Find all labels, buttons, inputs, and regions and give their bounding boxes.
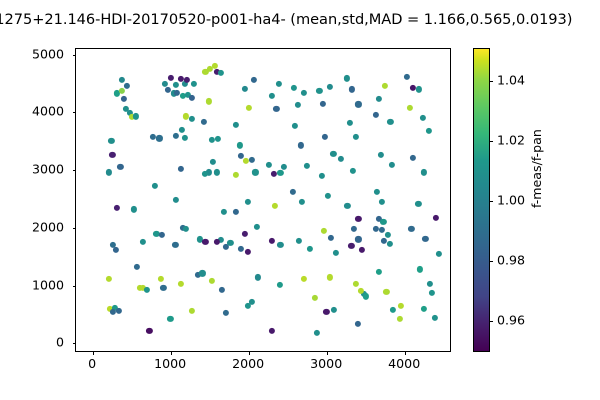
x-tick-label: 1000	[154, 356, 186, 371]
scatter-point	[333, 250, 339, 256]
scatter-point	[348, 243, 354, 249]
scatter-point	[296, 237, 302, 243]
scatter-point	[408, 226, 414, 232]
scatter-point	[108, 138, 114, 144]
scatter-point	[238, 245, 244, 251]
y-tick-mark	[73, 343, 77, 344]
scatter-point	[330, 151, 336, 157]
scatter-point	[209, 159, 215, 165]
y-tick-label: 3000	[0, 162, 64, 177]
scatter-point	[321, 228, 327, 234]
scatter-point	[266, 162, 272, 168]
scatter-point	[177, 166, 183, 172]
scatter-point	[280, 164, 286, 170]
scatter-point	[344, 75, 350, 81]
scatter-point	[387, 119, 393, 125]
colorbar-label: f-meas/f-pan	[529, 129, 544, 208]
y-tick-mark	[73, 286, 77, 287]
scatter-point	[417, 266, 423, 272]
plot-title: NGC1275+21.146-HDI-20170520-p001-ha4- (m…	[0, 11, 600, 29]
scatter-point	[273, 106, 279, 112]
scatter-axes	[75, 48, 451, 352]
scatter-point	[241, 230, 247, 236]
scatter-point	[159, 232, 165, 238]
colorbar-tick-label: 0.98	[497, 253, 525, 268]
x-tick-mark	[171, 351, 172, 355]
colorbar-tick-mark	[489, 141, 493, 142]
scatter-point	[349, 86, 355, 92]
scatter-point	[119, 88, 125, 94]
colorbar-tick-label: 1.00	[497, 193, 525, 208]
scatter-point	[237, 142, 243, 148]
scatter-point	[227, 240, 233, 246]
scatter-point	[353, 134, 359, 140]
scatter-point	[292, 123, 298, 129]
scatter-point	[355, 101, 361, 107]
scatter-point	[189, 95, 195, 101]
scatter-point	[223, 310, 229, 316]
scatter-point	[426, 128, 432, 134]
scatter-point	[290, 189, 296, 195]
scatter-point	[243, 158, 249, 164]
y-tick-mark	[73, 112, 77, 113]
scatter-point	[314, 330, 320, 336]
scatter-point	[184, 77, 190, 83]
scatter-point	[191, 81, 197, 87]
scatter-point	[160, 285, 166, 291]
scatter-point	[312, 295, 318, 301]
scatter-point	[109, 151, 115, 157]
x-tick-mark	[93, 351, 94, 355]
scatter-point	[382, 83, 388, 89]
scatter-point	[133, 113, 139, 119]
scatter-point	[344, 203, 350, 209]
scatter-point	[380, 219, 386, 225]
scatter-point	[202, 171, 208, 177]
scatter-point	[269, 237, 275, 243]
scatter-point	[376, 96, 382, 102]
y-tick-label: 1000	[0, 277, 64, 292]
scatter-point	[183, 226, 189, 232]
colorbar-tick-mark	[489, 201, 493, 202]
scatter-point	[407, 105, 413, 111]
scatter-point	[140, 239, 146, 245]
scatter-point	[172, 242, 178, 248]
scatter-point	[202, 239, 208, 245]
scatter-point	[358, 247, 364, 253]
y-tick-label: 0	[0, 335, 64, 350]
scatter-point	[168, 75, 174, 81]
scatter-point	[347, 120, 353, 126]
colorbar-tick-label: 1.02	[497, 132, 525, 147]
scatter-point	[379, 199, 385, 205]
scatter-point	[249, 157, 255, 163]
scatter-point	[121, 96, 127, 102]
scatter-point	[156, 135, 162, 141]
colorbar-tick-mark	[489, 81, 493, 82]
scatter-point	[124, 83, 130, 89]
scatter-point	[304, 162, 310, 168]
scatter-point	[177, 281, 183, 287]
scatter-point	[277, 282, 283, 288]
scatter-point	[276, 81, 282, 87]
scatter-point	[269, 93, 275, 99]
scatter-point	[355, 236, 361, 242]
scatter-point	[320, 101, 326, 107]
scatter-point	[201, 119, 207, 125]
matplotlib-figure: NGC1275+21.146-HDI-20170520-p001-ha4- (m…	[0, 0, 600, 400]
x-tick-label: 3000	[310, 356, 342, 371]
y-tick-mark	[73, 228, 77, 229]
y-tick-label: 4000	[0, 104, 64, 119]
scatter-point	[416, 86, 422, 92]
scatter-point	[206, 98, 212, 104]
scatter-point	[316, 87, 322, 93]
scatter-point	[350, 168, 356, 174]
y-tick-mark	[73, 55, 77, 56]
scatter-point	[113, 247, 119, 253]
scatter-point	[421, 305, 427, 311]
scatter-point	[245, 303, 251, 309]
scatter-point	[386, 241, 392, 247]
scatter-point	[271, 171, 277, 177]
scatter-point	[355, 320, 361, 326]
scatter-point	[173, 82, 179, 88]
scatter-point	[432, 315, 438, 321]
scatter-point	[338, 156, 344, 162]
scatter-point	[233, 121, 239, 127]
scatter-point	[134, 264, 140, 270]
scatter-point	[116, 308, 122, 314]
scatter-point	[383, 289, 389, 295]
scatter-point	[212, 63, 218, 69]
scatter-point	[214, 169, 220, 175]
scatter-point	[144, 286, 150, 292]
scatter-point	[291, 85, 297, 91]
scatter-point	[322, 134, 328, 140]
plot-title-text: NGC1275+21.146-HDI-20170520-p001-ha4- (m…	[0, 11, 572, 29]
scatter-point	[390, 307, 396, 313]
scatter-point	[158, 276, 164, 282]
scatter-point	[404, 74, 410, 80]
scatter-point	[233, 209, 239, 215]
scatter-point	[150, 134, 156, 140]
scatter-point	[398, 303, 404, 309]
scatter-point	[376, 269, 382, 275]
scatter-point	[422, 236, 428, 242]
scatter-point	[199, 270, 205, 276]
scatter-point	[242, 86, 248, 92]
scatter-point	[209, 278, 215, 284]
x-tick-mark	[249, 351, 250, 355]
scatter-point	[179, 127, 185, 133]
scatter-point	[351, 226, 357, 232]
scatter-point	[189, 308, 195, 314]
scatter-point	[245, 249, 251, 255]
colorbar	[473, 48, 490, 352]
scatter-point	[301, 276, 307, 282]
scatter-point	[353, 281, 359, 287]
scatter-point	[420, 115, 426, 121]
scatter-point	[301, 90, 307, 96]
scatter-point	[117, 164, 123, 170]
scatter-point	[294, 102, 300, 108]
scatter-point	[410, 155, 416, 161]
scatter-point	[173, 133, 179, 139]
colorbar-tick-mark	[489, 261, 493, 262]
scatter-point	[325, 193, 331, 199]
scatter-point	[113, 205, 119, 211]
scatter-point	[246, 105, 252, 111]
scatter-point	[378, 152, 384, 158]
scatter-point	[415, 201, 421, 207]
scatter-point	[131, 206, 137, 212]
scatter-point	[298, 142, 304, 148]
scatter-point	[328, 235, 334, 241]
x-tick-label: 4000	[388, 356, 420, 371]
scatter-point	[252, 169, 258, 175]
scatter-point	[214, 239, 220, 245]
scatter-point	[421, 169, 427, 175]
scatter-point	[209, 136, 215, 142]
scatter-point	[299, 199, 305, 205]
scatter-point	[319, 173, 325, 179]
x-tick-mark	[327, 351, 328, 355]
scatter-point	[327, 274, 333, 280]
colorbar-tick-label: 0.96	[497, 313, 525, 328]
scatter-point	[433, 215, 439, 221]
scatter-point	[372, 112, 378, 118]
scatter-point	[106, 275, 112, 281]
scatter-point	[379, 227, 385, 233]
scatter-point	[167, 316, 173, 322]
scatter-point	[233, 172, 239, 178]
scatter-point	[106, 169, 112, 175]
scatter-point	[436, 251, 442, 257]
scatter-point	[429, 290, 435, 296]
scatter-point	[255, 274, 261, 280]
scatter-point	[189, 116, 195, 122]
scatter-point	[251, 76, 257, 82]
scatter-point	[355, 215, 361, 221]
scatter-point	[219, 286, 225, 292]
scatter-point	[173, 197, 179, 203]
scatter-point	[221, 209, 227, 215]
scatter-point	[272, 203, 278, 209]
scatter-point	[374, 189, 380, 195]
y-tick-label: 2000	[0, 219, 64, 234]
x-tick-label: 2000	[232, 356, 264, 371]
scatter-point	[389, 162, 395, 168]
y-tick-mark	[73, 170, 77, 171]
y-tick-label: 5000	[0, 46, 64, 61]
scatter-point	[397, 316, 403, 322]
scatter-point	[215, 136, 221, 142]
scatter-point	[277, 170, 283, 176]
scatter-point	[385, 232, 391, 238]
scatter-point	[331, 307, 337, 313]
scatter-point	[427, 281, 433, 287]
scatter-point	[146, 328, 152, 334]
scatter-point	[307, 245, 313, 251]
scatter-point	[182, 135, 188, 141]
colorbar-tick-label: 1.04	[497, 72, 525, 87]
x-tick-label: 0	[88, 356, 96, 371]
x-tick-mark	[405, 351, 406, 355]
scatter-point	[254, 224, 260, 230]
scatter-point	[327, 84, 333, 90]
scatter-point	[269, 327, 275, 333]
scatter-point	[152, 183, 158, 189]
scatter-point	[363, 293, 369, 299]
scatter-point	[245, 199, 251, 205]
colorbar-tick-mark	[489, 321, 493, 322]
scatter-plot-area	[76, 49, 450, 351]
scatter-point	[218, 70, 224, 76]
scatter-point	[410, 85, 416, 91]
scatter-point	[323, 309, 329, 315]
scatter-point	[277, 242, 283, 248]
